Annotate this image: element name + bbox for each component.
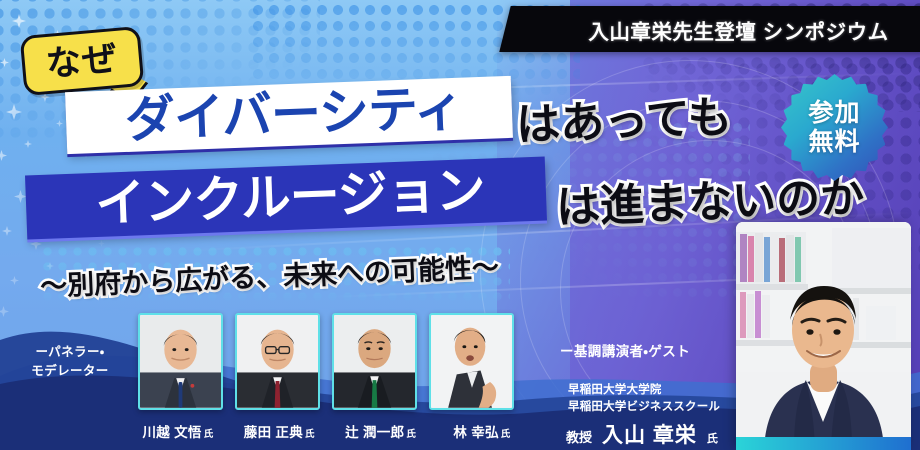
title-line1-highlight: ダイバーシティ xyxy=(67,75,521,154)
panelist-role-label: ーパネラー・ モデレーター xyxy=(8,343,132,382)
keynote-name: 入山 章栄 xyxy=(602,419,697,449)
panelist-name-text: 川越 文悟 xyxy=(142,425,201,440)
panelist-photo xyxy=(429,313,514,410)
panelist-name-suffix: 氏 xyxy=(501,429,511,440)
panelist-photo xyxy=(332,313,417,410)
keynote-role-label: ー基調講演者・ゲスト xyxy=(560,340,690,360)
keynote-title: 教授 xyxy=(566,427,592,446)
panelist-name-text: 辻 潤一郎 xyxy=(345,425,404,440)
keynote-name-row: 教授 入山 章栄 氏 xyxy=(566,419,718,449)
panelist-name: 川越 文悟氏 xyxy=(130,421,226,441)
title-line2-highlight: インクルージョン xyxy=(27,155,553,238)
free-admission-label: 参加 無料 xyxy=(781,74,888,181)
panelist-name: 藤田 正典氏 xyxy=(231,421,327,441)
title-line1-rest: はあっても xyxy=(515,81,733,153)
keynote-name-suffix: 氏 xyxy=(707,430,718,446)
keynote-speaker-photo xyxy=(736,222,911,450)
panelist-name-text: 藤田 正典 xyxy=(244,425,303,440)
panelist-photo-row xyxy=(138,313,514,410)
free-badge-line1: 参加 xyxy=(808,100,860,127)
panelist-name-text: 林 幸弘 xyxy=(453,425,498,440)
panelist-name-row: 川越 文悟氏 藤田 正典氏 辻 潤一郎氏 林 幸弘氏 xyxy=(130,421,530,441)
panelist-role-line2: モデレーター xyxy=(8,362,132,381)
keynote-affiliation-line2: 早稲田大学ビジネススクール xyxy=(568,399,720,416)
panelist-name: 辻 潤一郎氏 xyxy=(333,421,429,441)
free-badge-line2: 無料 xyxy=(808,129,860,156)
panelist-name-suffix: 氏 xyxy=(204,429,214,440)
subtitle-text: 〜別府から広がる、未来への可能性〜 xyxy=(39,245,499,303)
keynote-affiliation: 早稲田大学大学院 早稲田大学ビジネススクール xyxy=(568,382,720,415)
panelist-role-line1: ーパネラー・ xyxy=(8,343,132,362)
keynote-affiliation-line1: 早稲田大学大学院 xyxy=(568,382,720,399)
panelist-photo xyxy=(235,313,320,410)
free-admission-badge: 参加 無料 xyxy=(781,74,888,181)
panelist-photo xyxy=(138,313,223,410)
photo-accent-bar xyxy=(736,437,911,450)
panelist-name: 林 幸弘氏 xyxy=(434,421,530,441)
panelist-name-suffix: 氏 xyxy=(305,429,315,440)
panelist-name-suffix: 氏 xyxy=(406,429,416,440)
event-banner: 入山章栄先生登壇 シンポジウム なぜ ダイバーシティ はあっても インクルージョ… xyxy=(0,0,920,450)
